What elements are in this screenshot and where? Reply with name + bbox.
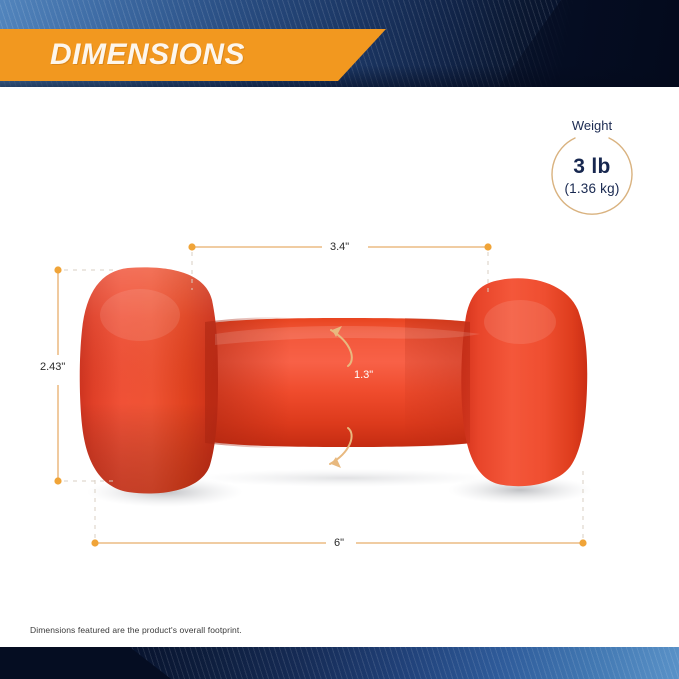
handle-diameter-arrows bbox=[330, 330, 352, 464]
weight-value: 3 lb bbox=[573, 156, 610, 178]
weight-badge: 3 lb (1.36 kg) bbox=[548, 132, 636, 220]
dimension-endpoint-dots bbox=[54, 243, 586, 546]
height-label: 2.43" bbox=[40, 361, 65, 373]
arrow-lower-arc bbox=[330, 428, 352, 464]
footer-banner bbox=[0, 647, 679, 679]
dot-top-left bbox=[188, 243, 195, 250]
width-label: 3.4" bbox=[330, 241, 349, 253]
dot-left-bottom bbox=[54, 477, 61, 484]
handle-arrow-heads bbox=[331, 326, 342, 468]
arrow-upper-arc bbox=[331, 330, 352, 366]
weight-caption: Weight bbox=[548, 118, 636, 133]
handle-diameter-label: 1.3" bbox=[354, 369, 373, 381]
dimensions-infographic: DIMENSIONS bbox=[0, 0, 679, 679]
dot-left-top bbox=[54, 266, 61, 273]
dot-bottom-left bbox=[91, 539, 98, 546]
length-label: 6" bbox=[334, 537, 344, 549]
weight-metric-value: (1.36 kg) bbox=[564, 181, 619, 196]
dot-top-right bbox=[484, 243, 491, 250]
dimension-overlay bbox=[0, 0, 679, 679]
footnote-text: Dimensions featured are the product's ov… bbox=[30, 625, 242, 635]
dot-bottom-right bbox=[579, 539, 586, 546]
